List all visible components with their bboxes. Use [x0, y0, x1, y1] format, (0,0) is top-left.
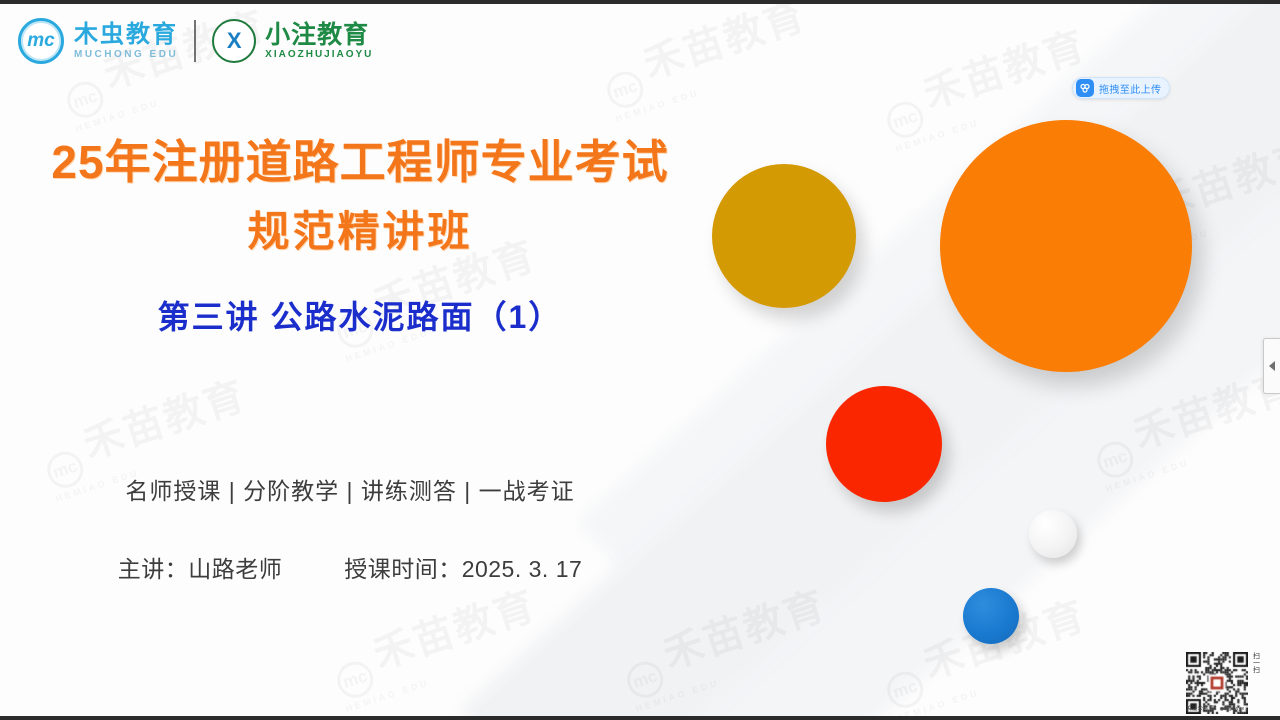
background-band: [452, 4, 1280, 716]
watermark-subtext: HEMIAO EDU: [894, 649, 1099, 716]
watermark: mc禾苗教育HEMIAO EDU: [593, 4, 819, 124]
xiaozhu-name-en: XIAOZHUJIAOYU: [265, 49, 373, 60]
watermark-text: 禾苗教育: [658, 584, 831, 678]
watermark-mark: mc: [623, 657, 668, 702]
logo-bar: mc 木虫教育 MUCHONG EDU X 小注教育 XIAOZHUJIAOYU: [18, 18, 373, 64]
watermark: mc禾苗教育HEMIAO EDU: [613, 573, 839, 714]
decor-circle-orange: [940, 120, 1192, 372]
qr-side-text: 扫一扫: [1251, 652, 1260, 673]
lesson-title: 第三讲 公路水泥路面（1）: [0, 292, 720, 338]
slide-canvas: mc禾苗教育HEMIAO EDU mc禾苗教育HEMIAO EDU mc禾苗教育…: [0, 4, 1280, 716]
course-features: 名师授课 | 分阶教学 | 讲练测答 | 一战考证: [0, 472, 700, 506]
watermark-subtext: HEMIAO EDU: [634, 639, 839, 714]
course-meta: 主讲：山路老师 授课时间：2025. 3. 17: [0, 550, 700, 584]
watermark-text: 禾苗教育: [368, 584, 541, 678]
watermark-subtext: HEMIAO EDU: [614, 49, 819, 124]
video-frame: mc禾苗教育HEMIAO EDU mc禾苗教育HEMIAO EDU mc禾苗教育…: [0, 0, 1280, 720]
muchong-logo-icon: mc: [18, 18, 64, 64]
watermark: mc禾苗教育HEMIAO EDU: [1083, 353, 1280, 494]
info-block: 名师授课 | 分阶教学 | 讲练测答 | 一战考证 主讲：山路老师 授课时间：2…: [0, 472, 700, 584]
decor-circle-blue: [963, 588, 1019, 644]
watermark-text: 禾苗教育: [638, 4, 811, 87]
chevron-left-icon: [1269, 361, 1275, 371]
schedule-label: 授课时间：2025. 3. 17: [344, 550, 582, 584]
watermark-subtext: HEMIAO EDU: [344, 639, 549, 714]
logo-xiaozhu: X 小注教育 XIAOZHUJIAOYU: [212, 19, 373, 63]
watermark-subtext: HEMIAO EDU: [74, 59, 279, 134]
decor-circle-red: [826, 386, 942, 502]
xiaozhu-logo-icon: X: [212, 19, 256, 63]
watermark-mark: mc: [603, 67, 648, 112]
watermark-text: 禾苗教育: [1128, 364, 1280, 458]
xiaozhu-wordmark: 小注教育 XIAOZHUJIAOYU: [265, 22, 373, 60]
upload-dropzone-button[interactable]: 拖拽至此上传: [1072, 77, 1170, 99]
xiaozhu-name-cn: 小注教育: [265, 22, 373, 48]
watermark-text: 禾苗教育: [78, 374, 251, 468]
muchong-name-en: MUCHONG EDU: [74, 49, 178, 60]
watermark-mark: mc: [883, 97, 928, 142]
muchong-wordmark: 木虫教育 MUCHONG EDU: [74, 22, 178, 59]
cloud-upload-icon: [1076, 79, 1094, 97]
logo-divider: [194, 20, 196, 62]
qr-caption: 关注公众号：gdgjkwyx: [1186, 704, 1276, 712]
decor-circle-white: [1029, 510, 1077, 558]
letterbox-bottom: [0, 716, 1280, 720]
watermark-subtext: HEMIAO EDU: [1104, 419, 1280, 494]
sidebar-collapse-handle[interactable]: [1263, 338, 1280, 394]
watermark-text: 禾苗教育: [918, 24, 1091, 118]
course-title-line2: 规范精讲班: [0, 206, 720, 259]
muchong-name-cn: 木虫教育: [74, 22, 178, 47]
background-band: [459, 4, 1280, 716]
decor-circle-gold: [712, 164, 856, 308]
watermark-mark: mc: [333, 657, 378, 702]
letterbox-top: [0, 0, 1280, 4]
watermark-mark: mc: [1093, 437, 1138, 482]
watermark-mark: mc: [883, 667, 928, 712]
watermark: mc禾苗教育HEMIAO EDU: [323, 573, 549, 714]
watermark-mark: mc: [63, 77, 108, 122]
instructor-label: 主讲：山路老师: [118, 550, 283, 584]
headline-block: 25年注册道路工程师专业考试 规范精讲班 第三讲 公路水泥路面（1）: [0, 134, 720, 338]
logo-muchong: mc 木虫教育 MUCHONG EDU: [18, 18, 178, 64]
course-title-line1: 25年注册道路工程师专业考试: [0, 134, 720, 192]
upload-label: 拖拽至此上传: [1099, 81, 1161, 96]
